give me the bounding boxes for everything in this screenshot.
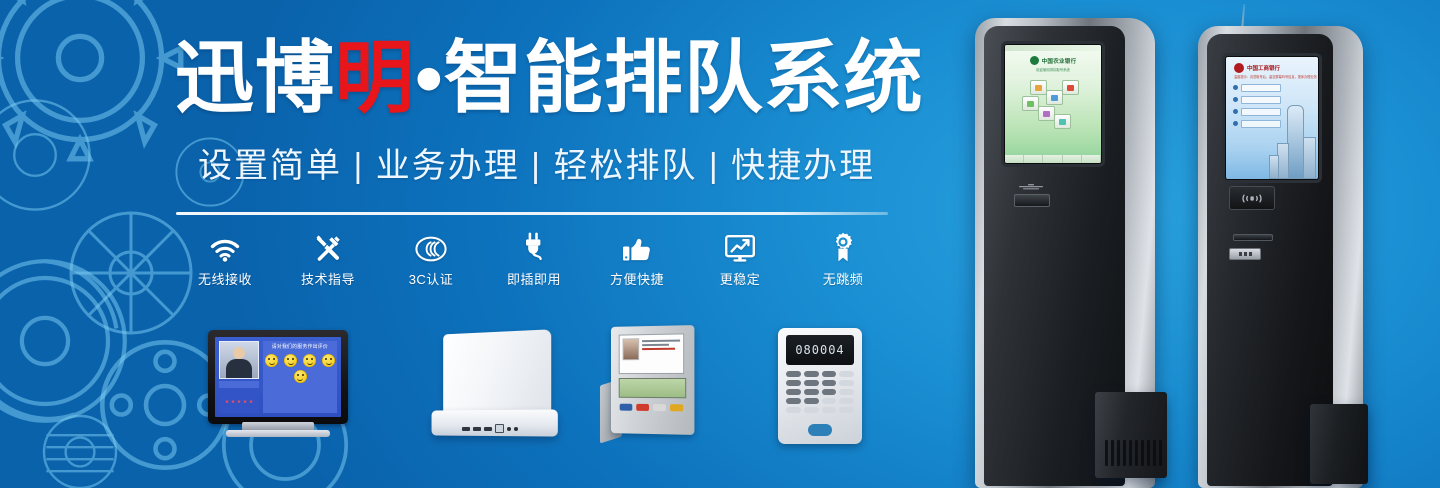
gear-icon <box>0 0 200 178</box>
page-subtitle: 设置简单 | 业务办理 | 轻松排队 | 快捷办理 <box>198 146 918 187</box>
kiosk-touchscreen: 中国工商银行 温馨提示：请您取号后，留意屏幕叫号信息，按序办理业务 <box>1225 56 1319 180</box>
menu-item <box>1233 96 1318 104</box>
product-evaluator-monitor: 请对我们的服务作出评价 <box>208 330 348 442</box>
bank-logo-icon <box>1234 63 1244 73</box>
bank-name: 中国农业银行 <box>1042 57 1077 65</box>
menu-tile <box>1062 80 1079 95</box>
id-badge <box>1229 248 1261 260</box>
key <box>804 407 819 413</box>
headline-part1: 迅博 <box>175 33 335 122</box>
staff-photo <box>623 338 640 360</box>
screen-subtitle: 欢迎使用排队取号系统 <box>1036 67 1070 72</box>
feature-label: 无线接收 <box>198 269 252 288</box>
screen-menu <box>1226 80 1318 128</box>
screen-bottom-tabs <box>1005 155 1101 163</box>
staff-id-card <box>619 333 684 374</box>
evaluator-buttons <box>619 404 684 412</box>
menu-tile <box>1038 106 1055 121</box>
key <box>786 371 801 377</box>
receiver-ports <box>462 424 518 433</box>
product-wireless-receiver <box>428 332 556 442</box>
caller-number: 080004 <box>795 343 844 357</box>
feature-label: 无跳频 <box>823 269 864 288</box>
smiley-face-icon <box>303 354 316 367</box>
power-plug-icon <box>520 228 548 262</box>
key <box>804 398 819 404</box>
key <box>822 398 837 404</box>
thumbs-up-icon <box>622 228 652 262</box>
caller-display: 080004 <box>786 335 854 365</box>
feature-item-convenient: 方便快捷 <box>588 228 686 288</box>
key <box>822 389 837 395</box>
key <box>839 389 854 395</box>
bank-name: 中国工商银行 <box>1247 64 1280 72</box>
menu-item <box>1233 108 1318 116</box>
feature-item-stable: 更稳定 <box>691 228 789 288</box>
menu-item <box>1233 84 1318 92</box>
star-icon <box>243 400 247 404</box>
caller-keypad <box>786 371 854 413</box>
rating-button <box>620 404 633 411</box>
menu-tile <box>1054 114 1071 129</box>
bank-header: 中国农业银行 <box>1030 56 1077 65</box>
card-text <box>642 338 680 371</box>
menu-diamond <box>1020 80 1086 128</box>
star-icon <box>237 400 241 404</box>
star-icon <box>225 400 229 404</box>
staff-name <box>219 381 259 388</box>
face-rating-group <box>263 354 337 383</box>
feature-label: 技术指导 <box>301 269 355 288</box>
star-icon <box>231 400 235 404</box>
smiley-face-icon <box>265 354 278 367</box>
rating-button <box>636 404 649 411</box>
feature-item-plugplay: 即插即用 <box>485 228 583 288</box>
brand-logo-icon <box>1017 184 1045 191</box>
key <box>804 380 819 386</box>
caller-confirm-button <box>808 424 832 436</box>
key <box>839 398 854 404</box>
evaluator-lcd <box>619 378 687 398</box>
monitor-bezel: 请对我们的服务作出评价 <box>208 330 348 424</box>
rating-button <box>670 404 683 411</box>
kiosk-touchscreen: 中国农业银行 欢迎使用排队取号系统 <box>1004 44 1102 164</box>
award-ribbon-icon <box>831 228 855 262</box>
menu-tile <box>1046 90 1063 105</box>
star-icon <box>249 400 253 404</box>
staff-panel <box>219 341 259 413</box>
lan-port <box>495 424 504 433</box>
rating-question: 请对我们的服务作出评价 <box>272 344 328 351</box>
monitor-chart-icon <box>725 228 755 262</box>
receiver-panel <box>443 329 551 420</box>
smiley-face-icon <box>284 354 297 367</box>
rating-stars <box>219 390 259 413</box>
key <box>786 380 801 386</box>
ticket-printer-slot <box>1014 194 1050 207</box>
key <box>822 407 837 413</box>
key <box>839 380 854 386</box>
key <box>822 380 837 386</box>
menu-tile <box>1030 80 1047 95</box>
tools-icon <box>314 228 342 262</box>
key <box>822 371 837 377</box>
audio-port <box>514 427 518 431</box>
divider <box>176 212 888 215</box>
kiosk-base <box>1310 404 1368 484</box>
feature-label: 3C认证 <box>409 269 454 288</box>
feature-item-wireless: 无线接收 <box>176 228 274 288</box>
feature-item-support: 技术指导 <box>279 228 377 288</box>
key <box>804 389 819 395</box>
screen-notice: 温馨提示：请您取号后，留意屏幕叫号信息，按序办理业务 <box>1226 73 1318 80</box>
monitor-base <box>226 430 330 437</box>
usb-port <box>473 427 481 431</box>
gear-icon <box>0 90 100 220</box>
headline-part2: •智能排队系统 <box>415 33 924 122</box>
evaluator-body <box>611 325 694 435</box>
queue-kiosk-blue: 中国工商银行 温馨提示：请您取号后，留意屏幕叫号信息，按序办理业务 <box>1198 26 1363 488</box>
product-row: 请对我们的服务作出评价 <box>0 316 900 456</box>
feature-item-ccc: 3C认证 <box>382 228 480 288</box>
queue-kiosk-green: 中国农业银行 欢迎使用排队取号系统 <box>975 18 1155 488</box>
key <box>839 371 854 377</box>
promo-banner: 迅博明•智能排队系统 设置简单 | 业务办理 | 轻松排队 | 快捷办理 无线接… <box>0 0 1440 488</box>
bank-header: 中国工商银行 <box>1226 57 1318 73</box>
key <box>839 407 854 413</box>
ccc-certification-icon <box>415 228 447 262</box>
smiley-face-icon <box>322 354 335 367</box>
staff-photo <box>219 341 259 379</box>
kiosk-screen-content: 中国工商银行 温馨提示：请您取号后，留意屏幕叫号信息，按序办理业务 <box>1226 57 1318 179</box>
feature-label: 更稳定 <box>720 269 761 288</box>
headline-highlight: 明 <box>335 33 415 122</box>
usb-port <box>462 427 470 431</box>
menu-tile <box>1022 96 1039 111</box>
ticket-slot <box>1233 234 1273 241</box>
product-number-caller: 080004 <box>778 328 862 444</box>
screen-topbar <box>1005 45 1101 51</box>
key <box>804 371 819 377</box>
key <box>786 398 801 404</box>
kiosk-base <box>1095 392 1167 478</box>
usb-port <box>484 427 492 431</box>
feature-label: 即插即用 <box>507 269 561 288</box>
feature-item-nohop: 无跳频 <box>794 228 892 288</box>
bank-logo-icon <box>1030 56 1039 65</box>
feature-list: 无线接收 技术指导 <box>176 228 892 290</box>
monitor-screen: 请对我们的服务作出评价 <box>215 337 341 417</box>
key <box>786 407 801 413</box>
smiley-face-icon <box>294 370 307 383</box>
caller-body: 080004 <box>778 328 862 444</box>
dc-port <box>507 427 511 431</box>
card-reader <box>1229 186 1275 210</box>
page-title: 迅博明•智能排队系统 <box>175 38 915 119</box>
feature-label: 方便快捷 <box>610 269 664 288</box>
menu-item <box>1233 120 1318 128</box>
wifi-icon <box>210 228 240 262</box>
kiosk-screen-content: 中国农业银行 欢迎使用排队取号系统 <box>1005 45 1101 163</box>
kiosk-vents <box>1105 440 1162 466</box>
rating-panel: 请对我们的服务作出评价 <box>263 341 337 413</box>
product-desktop-evaluator <box>600 326 704 444</box>
rating-button <box>653 404 666 411</box>
key <box>786 389 801 395</box>
